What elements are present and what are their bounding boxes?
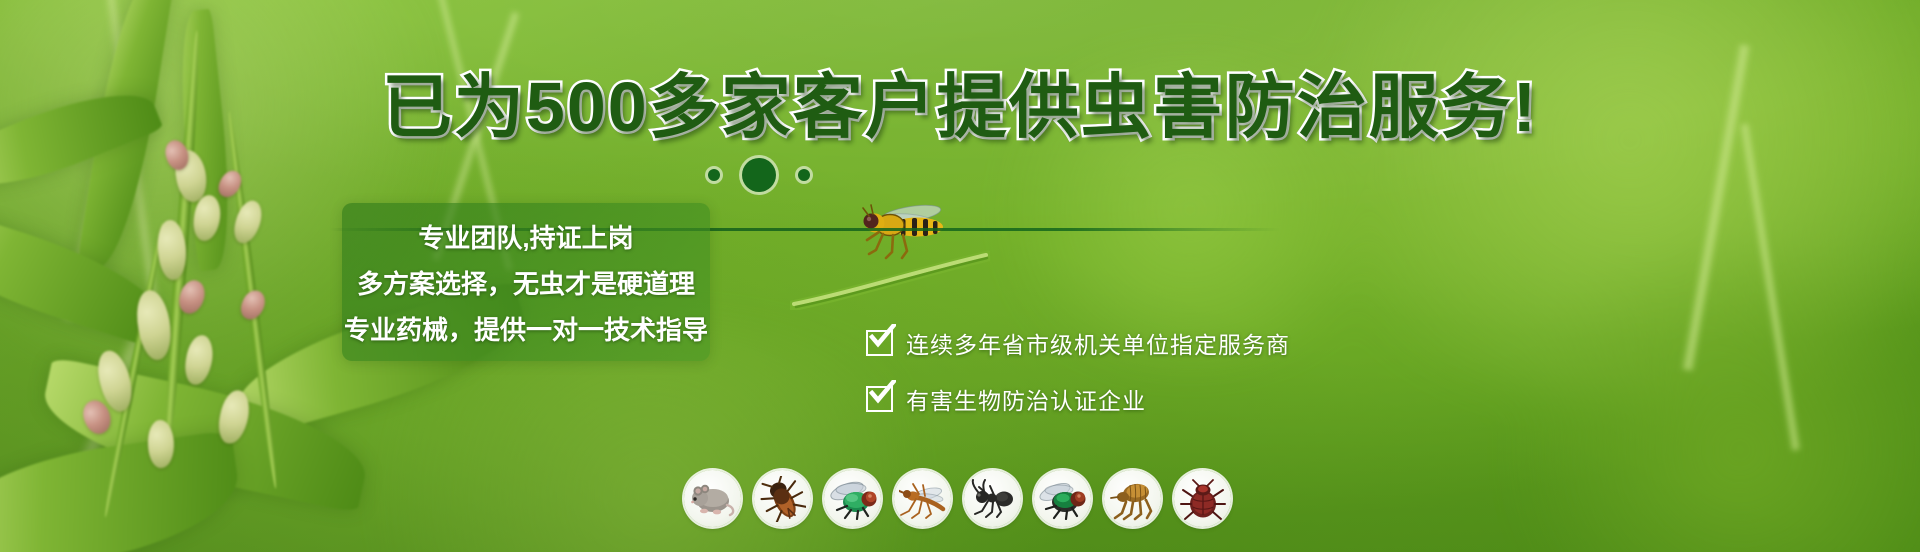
ant-icon[interactable] xyxy=(964,470,1021,527)
credential-label: 连续多年省市级机关单位指定服务商 xyxy=(906,326,1290,360)
selling-point-2: 多方案选择，无虫才是硬道理 xyxy=(357,264,695,301)
bedbug-icon[interactable] xyxy=(1174,470,1231,527)
selling-point-1: 专业团队,持证上岗 xyxy=(418,218,633,255)
flea-icon[interactable] xyxy=(1104,470,1161,527)
credential-label: 有害生物防治认证企业 xyxy=(906,382,1146,416)
dot-small-left xyxy=(708,169,720,181)
selling-points-text: 专业团队,持证上岗 多方案选择，无虫才是硬道理 专业药械，提供一对一技术指导 xyxy=(342,203,710,361)
credential-row: 连续多年省市级机关单位指定服务商 xyxy=(866,326,1290,360)
dot-large-center xyxy=(742,158,776,192)
pest-type-icons xyxy=(684,470,1231,527)
cockroach-icon[interactable] xyxy=(754,470,811,527)
dot-small-right xyxy=(798,169,810,181)
promo-banner: 已为500多家客户提供虫害防治服务! 专业团队,持证上岗 多方案选择，无虫才是硬… xyxy=(0,0,1920,552)
housefly-icon[interactable] xyxy=(1034,470,1091,527)
checkbox-checked-icon xyxy=(866,386,893,412)
mouse-icon[interactable] xyxy=(684,470,741,527)
credential-row: 有害生物防治认证企业 xyxy=(866,382,1290,416)
credentials-list: 连续多年省市级机关单位指定服务商 有害生物防治认证企业 xyxy=(866,326,1290,416)
mosquito-icon[interactable] xyxy=(894,470,951,527)
page-title: 已为500多家客户提供虫害防治服务! xyxy=(0,72,1920,142)
blowfly-icon[interactable] xyxy=(824,470,881,527)
selling-point-3: 专业药械，提供一对一技术指导 xyxy=(344,310,708,347)
hoverfly-icon xyxy=(845,196,965,266)
decorative-dots xyxy=(708,158,810,192)
checkbox-checked-icon xyxy=(866,330,893,356)
headline-text: 已为500多家客户提供虫害防治服务! xyxy=(382,68,1538,146)
